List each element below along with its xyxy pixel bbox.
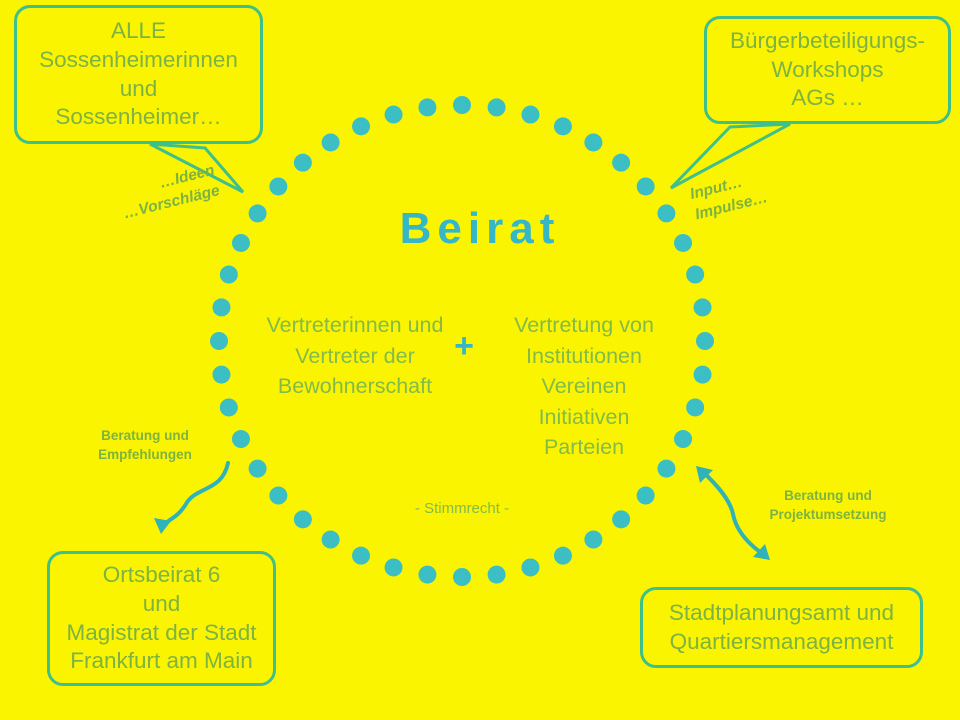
ring-dot — [694, 298, 712, 316]
center-left-line-3: der — [384, 344, 415, 368]
center-right-line-3: Institutionen — [526, 344, 642, 368]
label-beratung-projektumsetzung-line-2: Projektumsetzung — [769, 507, 886, 522]
ring-dot — [637, 487, 655, 505]
box-ortsbeirat-line-3: Magistrat der Stadt — [58, 619, 265, 648]
bubble-participation-workshops[interactable]: Bürgerbeteiligungs- Workshops AGs … — [704, 16, 951, 124]
box-stadtplanung-line-1: Stadtplanungsamt und — [651, 599, 912, 628]
bubble-all-line-1: ALLE — [25, 17, 252, 46]
ring-dot — [418, 566, 436, 584]
box-stadtplanungsamt-quartiersmanagement[interactable]: Stadtplanungsamt und Quartiersmanagement — [640, 587, 923, 668]
center-left-line-4: Bewohnerschaft — [278, 374, 432, 398]
box-ortsbeirat-line-2: und — [58, 590, 265, 619]
ring-dot — [453, 568, 471, 586]
box-ortsbeirat-magistrat[interactable]: Ortsbeirat 6 und Magistrat der Stadt Fra… — [47, 551, 276, 686]
footnote-stimmrecht: - Stimmrecht - — [372, 500, 552, 517]
ring-dot — [232, 430, 250, 448]
ring-dot — [521, 558, 539, 576]
ring-dot — [212, 298, 230, 316]
diagram-canvas: ALLE Sossenheimerinnen und Sossenheimer…… — [0, 0, 960, 720]
ring-dot — [249, 460, 267, 478]
center-right-line-5: Initiativen — [539, 405, 630, 429]
ring-dot — [220, 266, 238, 284]
plus-icon: + — [444, 327, 484, 366]
ring-dot — [322, 531, 340, 549]
bubble-all-line-2: Sossenheimerinnen — [25, 46, 252, 75]
ring-dot — [352, 547, 370, 565]
bubble-workshops-line-3: AGs … — [715, 84, 940, 113]
ring-dot — [418, 98, 436, 116]
box-ortsbeirat-line-4: Frankfurt am Main — [58, 647, 265, 676]
center-column-residents: Vertreterinnen und Vertreter der Bewohne… — [262, 310, 448, 402]
ring-dot — [453, 96, 471, 114]
ring-dot — [269, 487, 287, 505]
arrow-beratung-empfehlungen — [154, 463, 228, 534]
label-beratung-projektumsetzung-line-1: Beratung und — [784, 488, 872, 503]
page-title-beirat: Beirat — [0, 204, 960, 254]
ring-dot — [584, 133, 602, 151]
ring-dot — [554, 547, 572, 565]
ring-dot — [686, 266, 704, 284]
bubble-all-residents[interactable]: ALLE Sossenheimerinnen und Sossenheimer… — [14, 5, 263, 144]
ring-dot — [686, 398, 704, 416]
center-column-institutions: Vertretung von Institutionen Vereinen In… — [496, 310, 672, 463]
bubble-all-line-3: und — [25, 75, 252, 104]
ring-dot — [554, 117, 572, 135]
center-right-line-4: Vereinen — [542, 374, 627, 398]
label-beratung-projektumsetzung: Beratung und Projektumsetzung — [748, 487, 908, 525]
bubble-workshops-line-1: Bürgerbeteiligungs- — [715, 27, 940, 56]
box-stadtplanung-line-2: Quartiersmanagement — [651, 628, 912, 657]
ring-dot — [294, 510, 312, 528]
ring-dot — [696, 332, 714, 350]
ring-dot — [521, 106, 539, 124]
ring-dot — [210, 332, 228, 350]
box-ortsbeirat-line-1: Ortsbeirat 6 — [58, 561, 265, 590]
ring-dot — [488, 566, 506, 584]
ring-dot — [637, 177, 655, 195]
center-left-line-1: Vertreterinnen — [267, 313, 402, 337]
center-right-line-6: Parteien — [544, 435, 624, 459]
ring-dot — [269, 177, 287, 195]
ring-dot — [385, 106, 403, 124]
ring-dot — [674, 430, 692, 448]
bubble-workshops-line-2: Workshops — [715, 56, 940, 85]
ring-dot — [612, 154, 630, 172]
center-right-line-2: von — [619, 313, 654, 337]
label-beratung-empfehlungen-line-2: Empfehlungen — [98, 447, 192, 462]
ring-dot — [385, 558, 403, 576]
ring-dot — [612, 510, 630, 528]
ring-dot — [322, 133, 340, 151]
center-right-line-1: Vertretung — [514, 313, 613, 337]
ring-dot — [694, 366, 712, 384]
ring-dot — [220, 398, 238, 416]
label-beratung-empfehlungen: Beratung und Empfehlungen — [80, 427, 210, 465]
label-beratung-empfehlungen-line-1: Beratung und — [101, 428, 189, 443]
ring-dot — [294, 154, 312, 172]
ring-dot — [352, 117, 370, 135]
ring-dot — [584, 531, 602, 549]
ring-dot — [488, 98, 506, 116]
bubble-all-line-4: Sossenheimer… — [25, 103, 252, 132]
ring-dot — [212, 366, 230, 384]
